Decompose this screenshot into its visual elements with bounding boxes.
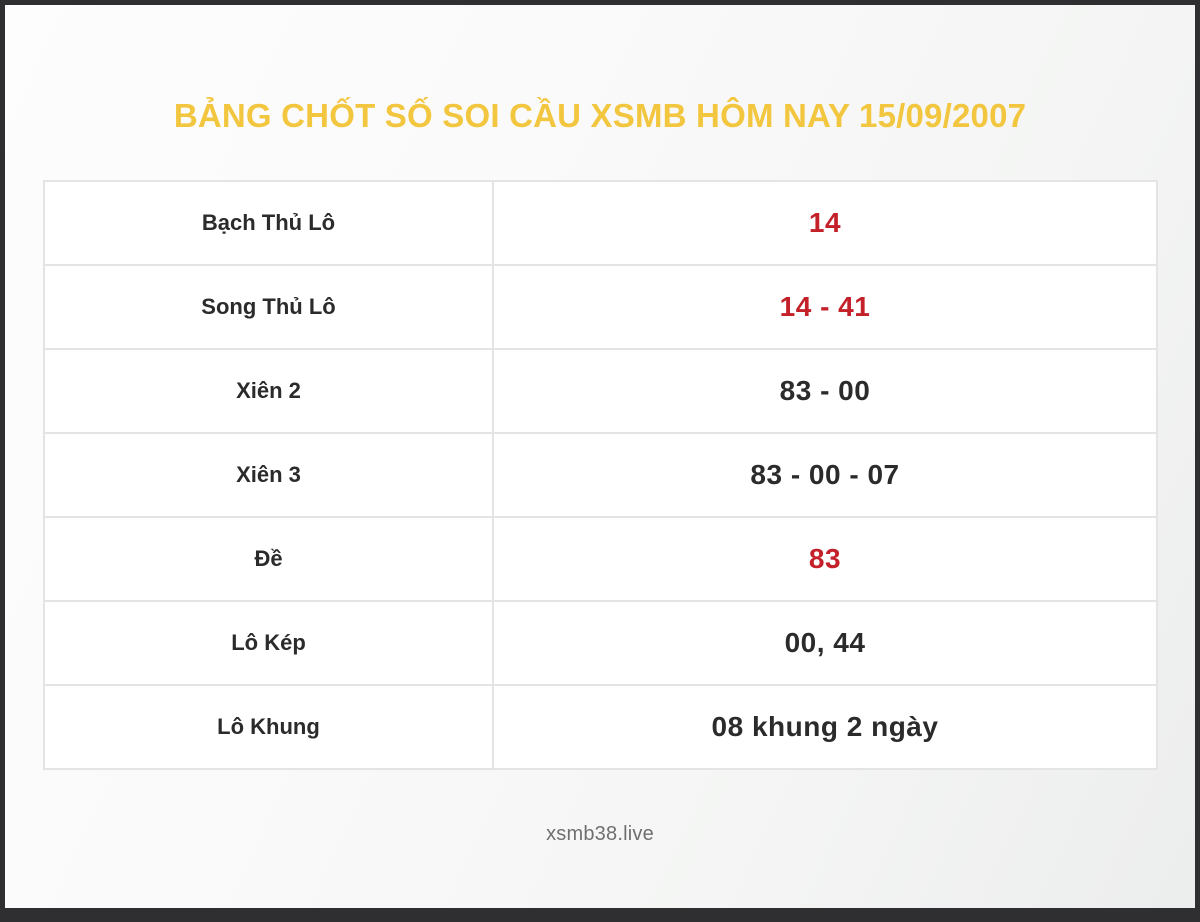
row-label-cell: Xiên 3 [44, 433, 493, 517]
chot-so-table-container: Bạch Thủ Lô 14 Song Thủ Lô 14 - 41 [43, 180, 1158, 770]
page-frame: BẢNG CHỐT SỐ SOI CẦU XSMB HÔM NAY 15/09/… [0, 0, 1200, 922]
row-value: 00, 44 [785, 627, 866, 658]
row-value: 83 [809, 543, 841, 574]
page-canvas: BẢNG CHỐT SỐ SOI CẦU XSMB HÔM NAY 15/09/… [5, 5, 1195, 908]
row-value-cell: 08 khung 2 ngày [493, 685, 1157, 769]
row-label-cell: Lô Khung [44, 685, 493, 769]
row-label-cell: Lô Kép [44, 601, 493, 685]
row-value-cell: 00, 44 [493, 601, 1157, 685]
row-label: Xiên 2 [236, 378, 301, 403]
chot-so-table: Bạch Thủ Lô 14 Song Thủ Lô 14 - 41 [43, 180, 1158, 770]
table-row: Lô Khung 08 khung 2 ngày [44, 685, 1157, 769]
table-row: Đề 83 [44, 517, 1157, 601]
row-label-cell: Bạch Thủ Lô [44, 181, 493, 265]
table-row: Bạch Thủ Lô 14 [44, 181, 1157, 265]
table-row: Song Thủ Lô 14 - 41 [44, 265, 1157, 349]
page-title: BẢNG CHỐT SỐ SOI CẦU XSMB HÔM NAY 15/09/… [5, 97, 1195, 135]
row-label: Đề [254, 546, 282, 571]
row-label: Song Thủ Lô [201, 294, 335, 319]
table-body: Bạch Thủ Lô 14 Song Thủ Lô 14 - 41 [44, 181, 1157, 769]
row-value-cell: 83 [493, 517, 1157, 601]
row-label-cell: Xiên 2 [44, 349, 493, 433]
site-watermark: xsmb38.live [5, 823, 1195, 846]
table-row: Xiên 2 83 - 00 [44, 349, 1157, 433]
table-row: Xiên 3 83 - 00 - 07 [44, 433, 1157, 517]
row-value: 83 - 00 [780, 375, 871, 406]
row-label: Xiên 3 [236, 462, 301, 487]
row-label: Lô Khung [217, 714, 320, 739]
row-value: 83 - 00 - 07 [750, 459, 899, 490]
row-value: 14 - 41 [780, 291, 871, 322]
row-value-cell: 83 - 00 - 07 [493, 433, 1157, 517]
row-label-cell: Đề [44, 517, 493, 601]
row-value-cell: 83 - 00 [493, 349, 1157, 433]
row-label: Bạch Thủ Lô [202, 210, 335, 235]
row-value-cell: 14 [493, 181, 1157, 265]
row-label: Lô Kép [231, 630, 306, 655]
row-value-cell: 14 - 41 [493, 265, 1157, 349]
row-value: 08 khung 2 ngày [712, 711, 939, 742]
table-row: Lô Kép 00, 44 [44, 601, 1157, 685]
row-label-cell: Song Thủ Lô [44, 265, 493, 349]
row-value: 14 [809, 207, 841, 238]
